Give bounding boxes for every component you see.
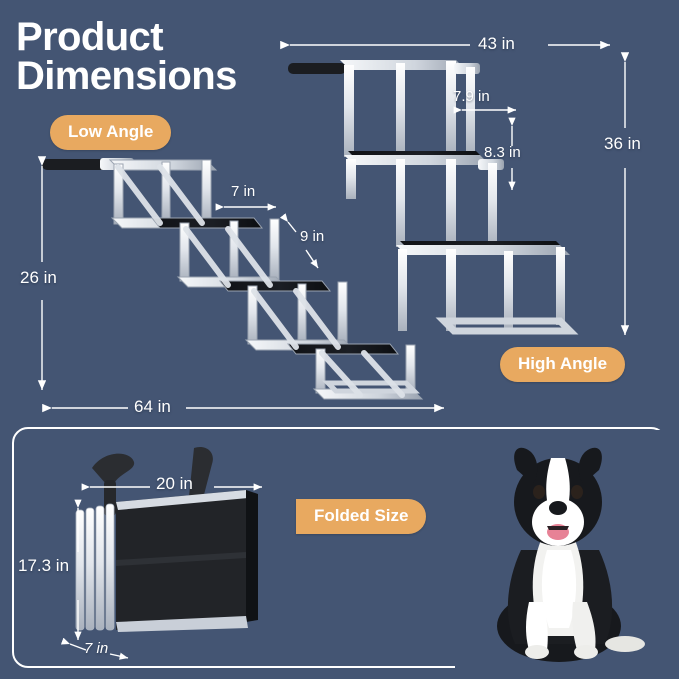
- dim-label-folded-width: 20 in: [156, 474, 193, 494]
- badge-low-angle: Low Angle: [50, 115, 171, 150]
- dim-label-high-step-depth: 7.9 in: [453, 88, 490, 105]
- dim-label-folded-depth: 7 in: [84, 640, 108, 657]
- page-title: Product Dimensions: [16, 18, 237, 96]
- dim-label-low-height: 26 in: [20, 268, 57, 288]
- dog-photo: [455, 430, 667, 668]
- badge-folded-size: Folded Size: [296, 499, 426, 534]
- dim-label-high-length: 43 in: [478, 34, 515, 54]
- badge-high-angle: High Angle: [500, 347, 625, 382]
- infographic-canvas: Product Dimensions: [0, 0, 679, 679]
- dim-label-low-step-rise: 9 in: [300, 228, 324, 245]
- dim-label-low-length: 64 in: [134, 397, 171, 417]
- dim-label-low-step-depth: 7 in: [231, 183, 255, 200]
- dim-label-high-height: 36 in: [604, 134, 641, 154]
- dim-label-high-step-rise: 8.3 in: [484, 144, 521, 161]
- dim-label-folded-height: 17.3 in: [18, 556, 69, 576]
